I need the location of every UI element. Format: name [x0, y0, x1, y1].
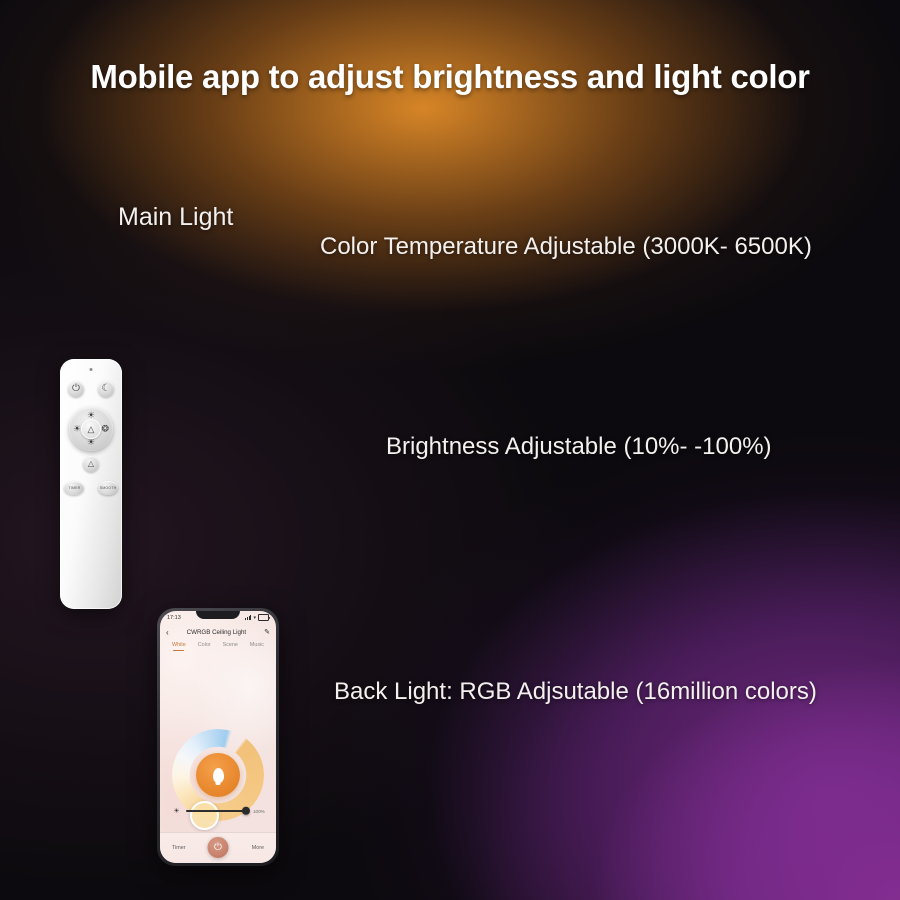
app-screen-white: 17:13 ▾ ‹ CWRGB Ceiling Light ✎ White Co… — [160, 611, 276, 863]
cct-center-preview[interactable] — [196, 753, 240, 797]
remote-night-button[interactable]: ☾ — [98, 381, 114, 397]
mode-tabs: White Color Scene Music — [160, 640, 276, 655]
remote-directional-pad[interactable]: ☀ ☀ ☀ ❂ △ — [69, 407, 113, 451]
status-bar: 17:13 ▾ — [160, 611, 276, 624]
tab-color[interactable]: Color — [198, 642, 211, 651]
cool-light-icon[interactable]: ❂ — [101, 425, 109, 434]
section-title-brightness: Brightness Adjustable (10%- -100%) — [386, 433, 900, 461]
remote-control-top: ⏻ ☾ ☀ ☀ ☀ ❂ △ △ TIMER SMOOTH — [60, 359, 122, 609]
tab-white[interactable]: White — [172, 642, 186, 651]
brightness-down-icon[interactable]: ☀ — [87, 438, 95, 447]
remote-smooth-button[interactable]: SMOOTH — [98, 481, 118, 495]
remote-center-button[interactable]: △ — [81, 419, 101, 439]
brightness-slider-thumb[interactable] — [242, 807, 251, 816]
bulb-icon — [213, 768, 224, 783]
brightness-icon: ☀ — [172, 807, 181, 815]
phone-white-mode: 17:13 ▾ ‹ CWRGB Ceiling Light ✎ White Co… — [157, 608, 279, 866]
tab-scene[interactable]: Scene — [223, 642, 238, 651]
timer-button[interactable]: Timer — [172, 845, 186, 851]
brightness-slider-track[interactable] — [186, 810, 248, 812]
app-bar: ‹ CWRGB Ceiling Light ✎ — [160, 624, 276, 640]
color-mode-icon: △ — [88, 460, 94, 468]
section-title-color-temperature: Color Temperature Adjustable (3000K- 650… — [320, 233, 900, 261]
brightness-slider-row[interactable]: ☀ 100% — [172, 807, 266, 815]
brightness-value: 100% — [253, 809, 266, 814]
cct-wheel-knob[interactable] — [190, 801, 219, 830]
warm-light-icon[interactable]: ☀ — [73, 425, 81, 434]
wifi-icon: ▾ — [253, 615, 256, 621]
pencil-icon[interactable]: ✎ — [264, 628, 270, 636]
app-title: CWRGB Ceiling Light — [169, 629, 264, 636]
app-power-button[interactable]: ⏻ — [208, 837, 229, 858]
section-title-back-light: Back Light: RGB Adjsutable (16million co… — [334, 678, 900, 706]
product-infographic: Mobile app to adjust brightness and ligh… — [0, 0, 900, 900]
app-bottom-bar: Timer ⏻ More — [160, 832, 276, 863]
more-button[interactable]: More — [252, 845, 264, 851]
remote-timer-button[interactable]: TIMER — [64, 481, 84, 495]
remote-led-indicator — [90, 368, 93, 371]
signal-icon — [245, 615, 251, 620]
status-time: 17:13 — [167, 615, 181, 621]
page-title: Mobile app to adjust brightness and ligh… — [0, 58, 900, 96]
remote-mode-button[interactable]: △ — [83, 456, 99, 472]
battery-icon — [258, 614, 269, 621]
color-mode-icon: △ — [88, 424, 95, 435]
section-title-main-light: Main Light — [118, 203, 900, 232]
remote-power-button[interactable]: ⏻ — [68, 381, 84, 397]
tab-music[interactable]: Music — [250, 642, 264, 651]
